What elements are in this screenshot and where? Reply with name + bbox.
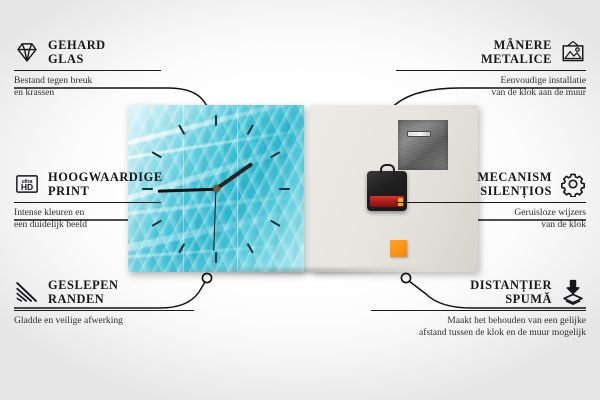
callout-rule <box>14 70 161 71</box>
callout-distantier-spuma: DISTANȚIER SPUMĂ Maakt het behouden van … <box>371 278 586 338</box>
callout-hoogwaardige-print: ultra HD HOOGWAARDIGE PRINT Intense kleu… <box>14 170 229 230</box>
callout-title: GEHARD GLAS <box>48 38 106 67</box>
gear-icon <box>560 171 586 197</box>
callout-title: DISTANȚIER SPUMĂ <box>470 278 552 307</box>
metal-hanger-plate <box>398 120 448 170</box>
svg-text:HD: HD <box>21 182 33 192</box>
callout-geslepen-randen: GESLEPEN RANDEN Gladde en veilige afwerk… <box>14 278 229 327</box>
callout-desc: Eenvoudige installatie van de klok aan d… <box>371 75 586 98</box>
callout-desc: Bestand tegen breuk en krassen <box>14 75 229 98</box>
callout-title: MECANISM SILENȚIOS <box>477 170 552 199</box>
callout-title: GESLEPEN RANDEN <box>48 278 119 307</box>
foam-spacer <box>390 240 407 257</box>
callout-rule <box>396 202 586 203</box>
callout-title: MÂNERE METALICE <box>481 38 552 67</box>
ultra-hd-icon: ultra HD <box>14 171 40 197</box>
spacer-layers-icon <box>560 279 586 305</box>
infographic-canvas: GEHARD GLAS Bestand tegen breuk en krass… <box>0 0 600 400</box>
callout-mecanism-silentios: MECANISM SILENȚIOS Geruisloze wijzers va… <box>371 170 586 230</box>
callout-desc: Maakt het behouden van een gelijke afsta… <box>371 315 586 338</box>
diamond-icon <box>14 39 40 65</box>
callout-manere-metalice: MÂNERE METALICE Eenvoudige installatie v… <box>371 38 586 98</box>
callout-desc: Gladde en veilige afwerking <box>14 315 229 327</box>
callout-rule <box>14 202 161 203</box>
callout-rule <box>14 310 194 311</box>
callout-title: HOOGWAARDIGE PRINT <box>48 170 163 199</box>
callout-desc: Geruisloze wijzers van de klok <box>371 207 586 230</box>
callout-rule <box>371 310 586 311</box>
callout-gehard-glas: GEHARD GLAS Bestand tegen breuk en krass… <box>14 38 229 98</box>
hanger-slot <box>407 131 431 137</box>
callout-desc: Intense kleuren en een duidelijk beeld <box>14 207 229 230</box>
picture-frame-icon <box>560 39 586 65</box>
ground-edges-icon <box>14 279 40 305</box>
callout-rule <box>396 70 586 71</box>
